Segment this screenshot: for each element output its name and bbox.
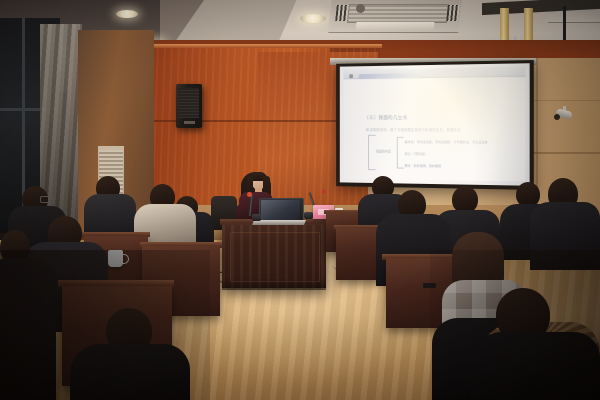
microphone-head-icon [247, 192, 252, 197]
air-conditioner-diffuser [356, 22, 435, 31]
slide-subheading: 新法制的目标、各个方面的规定及先行实施的企业、管理办法 [366, 127, 461, 132]
projection-screen: （三）我国的几立点 新法制的目标、各个方面的规定及先行实施的企业、管理办法 我国… [340, 63, 530, 186]
slide-branch-line: 基本法：专利法实施、专利法细则、不予保护法、不正当竞争 [405, 139, 488, 144]
slide-content-area: （三）我国的几立点 新法制的目标、各个方面的规定及先行实施的企业、管理办法 我国… [344, 78, 526, 182]
floor-shadow-left [0, 250, 210, 400]
conference-room-photo: （三）我国的几立点 新法制的目标、各个方面的规定及先行实施的企业、管理办法 我国… [0, 0, 600, 400]
speaker-grille-icon [178, 88, 199, 118]
glasses-icon [40, 196, 54, 203]
laptop-display [261, 200, 300, 220]
microphone-head-icon [322, 189, 326, 194]
audience-head [452, 186, 478, 213]
slide-brace-outer [368, 135, 376, 170]
ceiling-sprinkler-icon [356, 4, 365, 13]
air-conditioner-vane-left [335, 5, 349, 21]
air-conditioner-vane-right [446, 5, 460, 21]
wall-trim [150, 44, 382, 48]
slide-heading: （三）我国的几立点 [364, 115, 407, 121]
slide-window-icon [349, 74, 353, 78]
podium-shadow [222, 278, 326, 290]
laptop-keyboard[interactable] [252, 220, 306, 225]
podium-front-panel [230, 232, 320, 282]
microphone-base [252, 214, 261, 221]
slide-branch-line: 要点：职务发明、保护期限 [405, 163, 441, 168]
floor-shadow-right [430, 250, 600, 400]
slide-group-label: 我国的内容 [376, 149, 391, 154]
slide-branch-line: 核心：《专利法》 [405, 151, 428, 156]
downlight-icon [300, 14, 326, 23]
camera-lens-icon [554, 114, 560, 120]
microphone-base [304, 212, 313, 219]
downlight-icon [116, 10, 138, 18]
slide-brace-inner [397, 137, 404, 169]
speaker-logo [184, 121, 195, 124]
slide-window-title [359, 73, 419, 79]
